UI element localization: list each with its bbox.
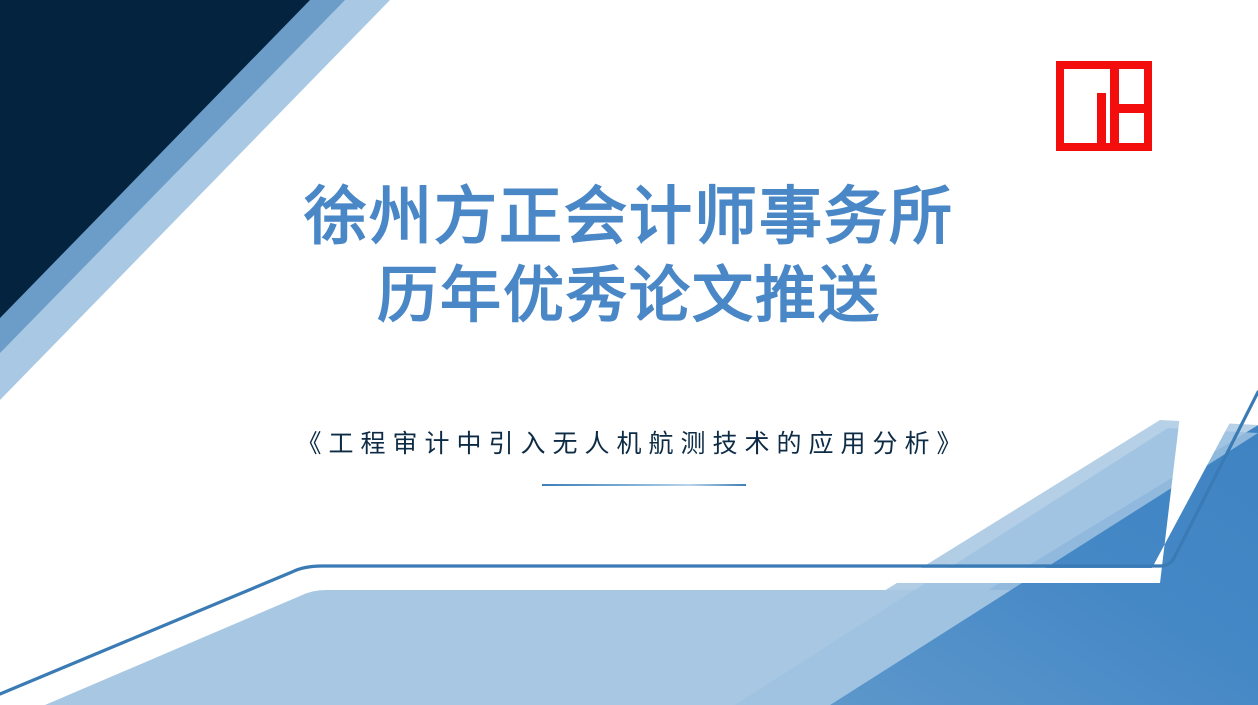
decor-right-accent-wedge-overlay xyxy=(830,433,1258,705)
decor-rounded-banner-fill xyxy=(45,440,1258,705)
slide-canvas: 徐州方正会计师事务所 历年优秀论文推送 《工程审计中引入无人机航测技术的应用分析… xyxy=(0,0,1258,705)
logo-right-crossbar xyxy=(1110,104,1150,113)
title-block: 徐州方正会计师事务所 历年优秀论文推送 xyxy=(0,180,1258,332)
title-line-primary: 徐州方正会计师事务所 xyxy=(0,180,1258,254)
title-line-secondary: 历年优秀论文推送 xyxy=(0,260,1258,332)
company-logo xyxy=(1056,61,1152,151)
decor-right-accent-wedge xyxy=(800,425,1258,705)
title-divider-rule xyxy=(542,484,746,486)
decor-right-pale-band xyxy=(700,420,1258,705)
subtitle-paper-name: 《工程审计中引入无人机航测技术的应用分析》 xyxy=(0,424,1258,460)
decor-right-pale-band-overlay xyxy=(735,428,1258,705)
logo-left-stem xyxy=(1097,93,1106,149)
